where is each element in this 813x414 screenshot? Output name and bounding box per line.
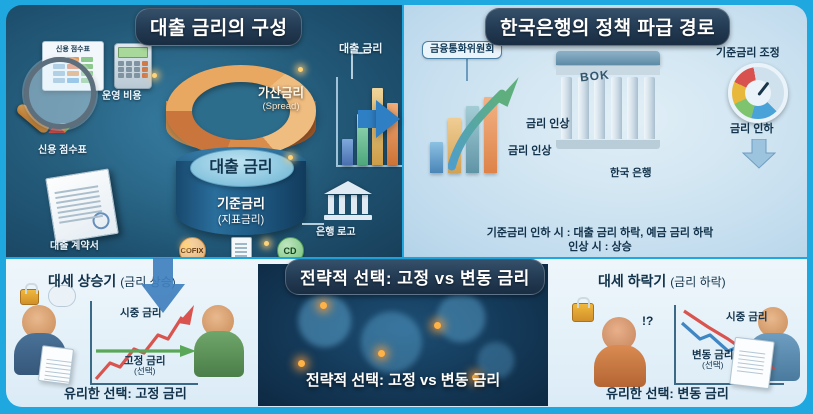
glow-dot xyxy=(152,73,157,78)
connector-committee xyxy=(466,59,468,81)
falling-variable-rate-label-sub: (선택) xyxy=(692,361,734,371)
speedometer-icon xyxy=(728,63,788,123)
operating-cost-label: 운영 비용 xyxy=(102,91,142,103)
magnifier-icon xyxy=(24,57,96,129)
bank-logo-icon xyxy=(324,181,372,221)
spread-label-main: 가산금리 xyxy=(258,86,304,100)
arrow-down-large-icon xyxy=(140,258,186,314)
speedometer-needle xyxy=(757,82,769,96)
calculator-screen xyxy=(118,47,148,58)
connector-bank xyxy=(302,223,324,225)
contract-seal-icon xyxy=(91,211,110,230)
flow-arrow-right-icon xyxy=(376,100,400,138)
bank-bond-doc-icon xyxy=(231,237,252,257)
donut-center-label: 대출 금리 xyxy=(166,153,316,177)
connector-bars-v xyxy=(351,53,353,79)
spread-label: 가산금리 (Spread) xyxy=(258,82,304,112)
bok-base xyxy=(556,140,660,149)
rising-fixed-rate-label: 고정 금리 (선택) xyxy=(124,355,166,377)
rate-hike-axis-label: 금리 인상 xyxy=(508,145,552,158)
bok-roof xyxy=(556,51,660,65)
policy-note-line1: 기준금리 인하 시 : 대출 금리 하락, 예금 금리 하락 xyxy=(450,227,750,241)
rising-cycle-heading-bold: 대세 상승기 xyxy=(48,273,116,289)
map-node xyxy=(434,322,441,329)
lock-icon xyxy=(572,303,594,322)
loan-document-left xyxy=(38,345,74,385)
loan-contract-caption: 대출 계약서 xyxy=(50,241,99,253)
falling-cycle-heading: 대세 하락기 (금리 하락) xyxy=(598,273,726,290)
title-loan-rate-composition: 대출 금리의 구성 xyxy=(135,8,302,46)
bok-building-icon: BOK xyxy=(556,51,660,163)
world-map-caption: 전략적 선택: 고정 vs 변동 금리 xyxy=(258,369,548,390)
bok-columns xyxy=(556,77,660,139)
credit-gauge-label: 신용 점수표 xyxy=(38,145,87,157)
map-node xyxy=(378,350,385,357)
question-mark: !? xyxy=(642,315,653,329)
base-rate-label-main: 기준금리 xyxy=(217,196,265,211)
spread-label-sub: (Spread) xyxy=(258,101,304,112)
falling-variable-rate-label: 변동 금리 (선택) xyxy=(692,349,734,371)
title-strategic-choice: 전략적 선택: 고정 vs 변동 금리 xyxy=(285,259,545,295)
avatar-decider-left-body xyxy=(194,331,244,377)
bank-logo-label: 은행 로고 xyxy=(316,227,356,239)
badge-cofix: COFIX COFIX xyxy=(173,237,211,257)
falling-cycle-heading-bold: 대세 하락기 xyxy=(598,273,666,289)
cofix-disc-icon: COFIX xyxy=(179,237,206,257)
calculator-keys xyxy=(118,61,148,78)
rate-hike-arrow-label: 금리 인상 xyxy=(526,118,570,131)
credit-score-table-title: 신용 점수표 xyxy=(43,44,103,54)
title-policy-transmission: 한국은행의 정책 파급 경로 xyxy=(485,8,730,46)
rising-fixed-rate-label-sub: (선택) xyxy=(124,367,166,377)
infographic-root: 신용 점수표 운영 비용 신용 점수표 대출 계약서 xyxy=(0,0,813,414)
cd-disc-icon: CD xyxy=(277,237,304,257)
glow-dot xyxy=(264,241,269,246)
loan-rate-bars-label: 대출 금리 xyxy=(339,43,383,56)
map-node xyxy=(320,302,327,309)
glow-dot xyxy=(184,243,189,248)
map-node xyxy=(298,360,305,367)
bank-base xyxy=(324,215,372,220)
policy-note: 기준금리 인하 시 : 대출 금리 하락, 예금 금리 하락 인상 시 : 상승 xyxy=(450,227,750,255)
lock-icon xyxy=(20,289,39,305)
avatar-worried-right-body xyxy=(594,345,646,387)
rate-cut-label: 금리 인하 xyxy=(730,123,774,136)
falling-market-rate-label: 시중 금리 xyxy=(726,311,768,323)
policy-note-line2: 인상 시 : 상승 xyxy=(450,241,750,255)
loan-contract-document-icon xyxy=(45,168,119,243)
glow-dot xyxy=(298,67,303,72)
rising-cycle-conclusion: 유리한 선택: 고정 금리 xyxy=(64,387,187,402)
arrow-down-icon xyxy=(742,139,776,169)
badge-cd: CD CD xyxy=(271,237,309,257)
falling-cycle-heading-paren: (금리 하락) xyxy=(670,275,726,289)
base-rate-adjust-title: 기준금리 조정 xyxy=(716,47,780,60)
badge-bank-bond: 금융채 xyxy=(222,237,260,257)
glow-dot xyxy=(288,155,293,160)
base-rate-label-sub: (지표금리) xyxy=(166,212,316,227)
interest-bill-document xyxy=(729,337,775,390)
falling-cycle-conclusion: 유리한 선택: 변동 금리 xyxy=(606,387,729,402)
bank-roof xyxy=(324,181,372,194)
calculator-icon xyxy=(114,43,152,89)
base-rate-label: 기준금리 (지표금리) xyxy=(166,193,316,227)
bank-columns xyxy=(324,195,372,214)
bok-caption: 한국 은행 xyxy=(610,167,652,179)
